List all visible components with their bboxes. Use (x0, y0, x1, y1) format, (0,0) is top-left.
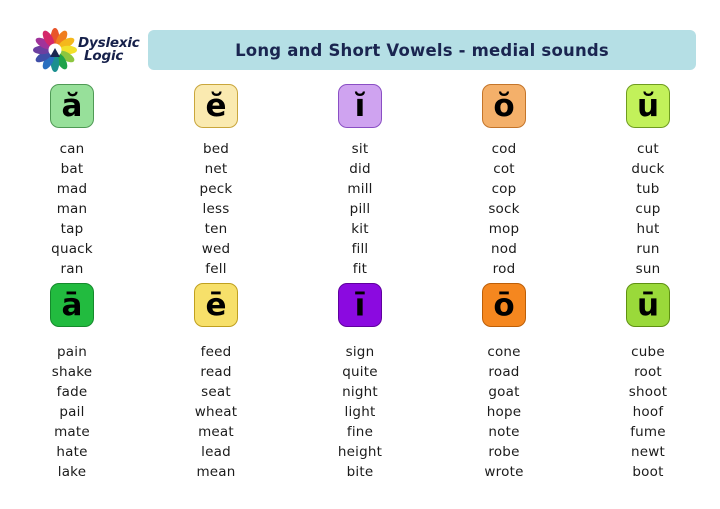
short-vowels-section: ăcanbatmadmantapquackranĕbednetpecklesst… (0, 84, 720, 279)
word-item: quack (51, 239, 93, 259)
vowel-tile-long-e[interactable]: ē (194, 283, 238, 327)
word-item: night (342, 382, 378, 402)
word-item: run (636, 239, 659, 259)
word-item: wed (202, 239, 231, 259)
brand-logo: Dyslexic Logic (33, 27, 145, 73)
word-item: cot (493, 159, 515, 179)
word-item: shake (52, 362, 93, 382)
word-item: rod (493, 259, 516, 279)
vowel-column-long-o: ōconeroadgoathopenoterobewrote (432, 283, 576, 482)
vowel-tile-long-i[interactable]: ī (338, 283, 382, 327)
word-item: sock (488, 199, 519, 219)
vowel-column-long-u: ūcuberootshoothooffumenewtboot (576, 283, 720, 482)
word-item: peck (200, 179, 233, 199)
word-item: robe (488, 442, 519, 462)
vowel-letter-short-u: ŭ (637, 91, 659, 122)
word-item: ten (205, 219, 228, 239)
word-item: can (60, 139, 85, 159)
vowel-tile-short-a[interactable]: ă (50, 84, 94, 128)
vowel-tile-short-i[interactable]: ĭ (338, 84, 382, 128)
vowel-tile-short-e[interactable]: ĕ (194, 84, 238, 128)
word-list-short-o: codcotcopsockmopnodrod (488, 139, 519, 279)
word-item: fume (630, 422, 666, 442)
brand-logo-text: Dyslexic Logic (78, 37, 140, 63)
word-item: boot (632, 462, 663, 482)
word-item: mad (57, 179, 88, 199)
word-item: fell (205, 259, 226, 279)
vowel-column-short-o: ŏcodcotcopsockmopnodrod (432, 84, 576, 279)
vowel-letter-long-a: ā (62, 290, 83, 321)
word-list-short-i: sitdidmillpillkitfillfit (347, 139, 372, 279)
word-item: did (349, 159, 371, 179)
vowel-tile-long-u[interactable]: ū (626, 283, 670, 327)
word-list-long-i: signquitenightlightfineheightbite (338, 342, 382, 482)
word-item: wheat (195, 402, 237, 422)
word-item: ran (61, 259, 84, 279)
vowel-tile-long-a[interactable]: ā (50, 283, 94, 327)
word-item: cut (637, 139, 659, 159)
word-item: height (338, 442, 382, 462)
rainbow-burst-logo-icon (33, 28, 77, 72)
vowel-letter-short-o: ŏ (493, 91, 514, 122)
long-vowels-section: āpainshakefadepailmatehatelakeēfeedreads… (0, 283, 720, 482)
word-item: mop (489, 219, 520, 239)
word-item: goat (488, 382, 519, 402)
word-list-long-a: painshakefadepailmatehatelake (52, 342, 93, 482)
word-list-long-o: coneroadgoathopenoterobewrote (484, 342, 523, 482)
brand-logo-line2: Logic (78, 50, 140, 63)
word-item: pill (350, 199, 371, 219)
word-item: mate (54, 422, 90, 442)
word-item: meat (198, 422, 234, 442)
word-item: duck (631, 159, 664, 179)
vowel-tile-short-u[interactable]: ŭ (626, 84, 670, 128)
word-item: mill (347, 179, 372, 199)
word-item: cop (492, 179, 517, 199)
word-item: tap (61, 219, 84, 239)
word-item: lead (201, 442, 231, 462)
vowel-column-short-a: ăcanbatmadmantapquackran (0, 84, 144, 279)
word-item: sun (636, 259, 661, 279)
word-item: cod (492, 139, 517, 159)
word-item: bat (61, 159, 84, 179)
word-item: root (634, 362, 662, 382)
worksheet-page: Dyslexic Logic Long and Short Vowels - m… (0, 0, 720, 509)
vowel-letter-long-u: ū (637, 290, 659, 321)
word-item: net (205, 159, 228, 179)
word-item: cone (487, 342, 520, 362)
word-list-short-a: canbatmadmantapquackran (51, 139, 93, 279)
word-item: cube (631, 342, 665, 362)
vowel-letter-long-i: ī (355, 290, 366, 321)
word-item: quite (342, 362, 377, 382)
word-item: less (203, 199, 230, 219)
word-item: fade (57, 382, 88, 402)
word-item: fine (347, 422, 373, 442)
word-list-short-e: bednetpecklesstenwedfell (200, 139, 233, 279)
word-item: pail (59, 402, 84, 422)
word-item: cup (635, 199, 660, 219)
word-list-long-e: feedreadseatwheatmeatleadmean (195, 342, 237, 482)
vowel-column-short-u: ŭcutducktubcuphutrunsun (576, 84, 720, 279)
title-banner: Long and Short Vowels - medial sounds (148, 30, 696, 70)
word-item: bite (347, 462, 374, 482)
word-item: note (488, 422, 519, 442)
vowel-tile-long-o[interactable]: ō (482, 283, 526, 327)
word-item: mean (196, 462, 235, 482)
vowel-letter-short-i: ĭ (355, 91, 366, 122)
word-item: light (345, 402, 376, 422)
word-item: fill (352, 239, 369, 259)
word-item: hope (487, 402, 522, 422)
word-item: fit (353, 259, 367, 279)
word-item: seat (201, 382, 231, 402)
word-item: hoof (633, 402, 664, 422)
word-list-long-u: cuberootshoothooffumenewtboot (629, 342, 667, 482)
word-item: sit (352, 139, 369, 159)
word-item: shoot (629, 382, 667, 402)
word-item: road (488, 362, 519, 382)
page-header: Dyslexic Logic Long and Short Vowels - m… (0, 0, 720, 82)
vowel-column-short-e: ĕbednetpecklesstenwedfell (144, 84, 288, 279)
word-item: kit (351, 219, 368, 239)
page-title: Long and Short Vowels - medial sounds (235, 41, 609, 60)
word-item: nod (491, 239, 517, 259)
word-item: hut (636, 219, 659, 239)
word-item: bed (203, 139, 229, 159)
vowel-column-short-i: ĭsitdidmillpillkitfillfit (288, 84, 432, 279)
vowel-letter-short-e: ĕ (205, 91, 226, 122)
word-item: tub (636, 179, 659, 199)
vowel-letter-short-a: ă (62, 91, 83, 122)
word-item: newt (631, 442, 665, 462)
word-item: wrote (484, 462, 523, 482)
vowel-column-long-i: īsignquitenightlightfineheightbite (288, 283, 432, 482)
word-item: feed (201, 342, 232, 362)
word-item: man (57, 199, 88, 219)
word-list-short-u: cutducktubcuphutrunsun (631, 139, 664, 279)
vowel-letter-long-e: ē (205, 290, 226, 321)
vowel-letter-long-o: ō (493, 290, 514, 321)
vowel-column-long-a: āpainshakefadepailmatehatelake (0, 283, 144, 482)
word-item: hate (56, 442, 87, 462)
word-item: lake (58, 462, 86, 482)
vowel-tile-short-o[interactable]: ŏ (482, 84, 526, 128)
word-item: sign (346, 342, 375, 362)
word-item: pain (57, 342, 87, 362)
vowel-column-long-e: ēfeedreadseatwheatmeatleadmean (144, 283, 288, 482)
word-item: read (200, 362, 231, 382)
